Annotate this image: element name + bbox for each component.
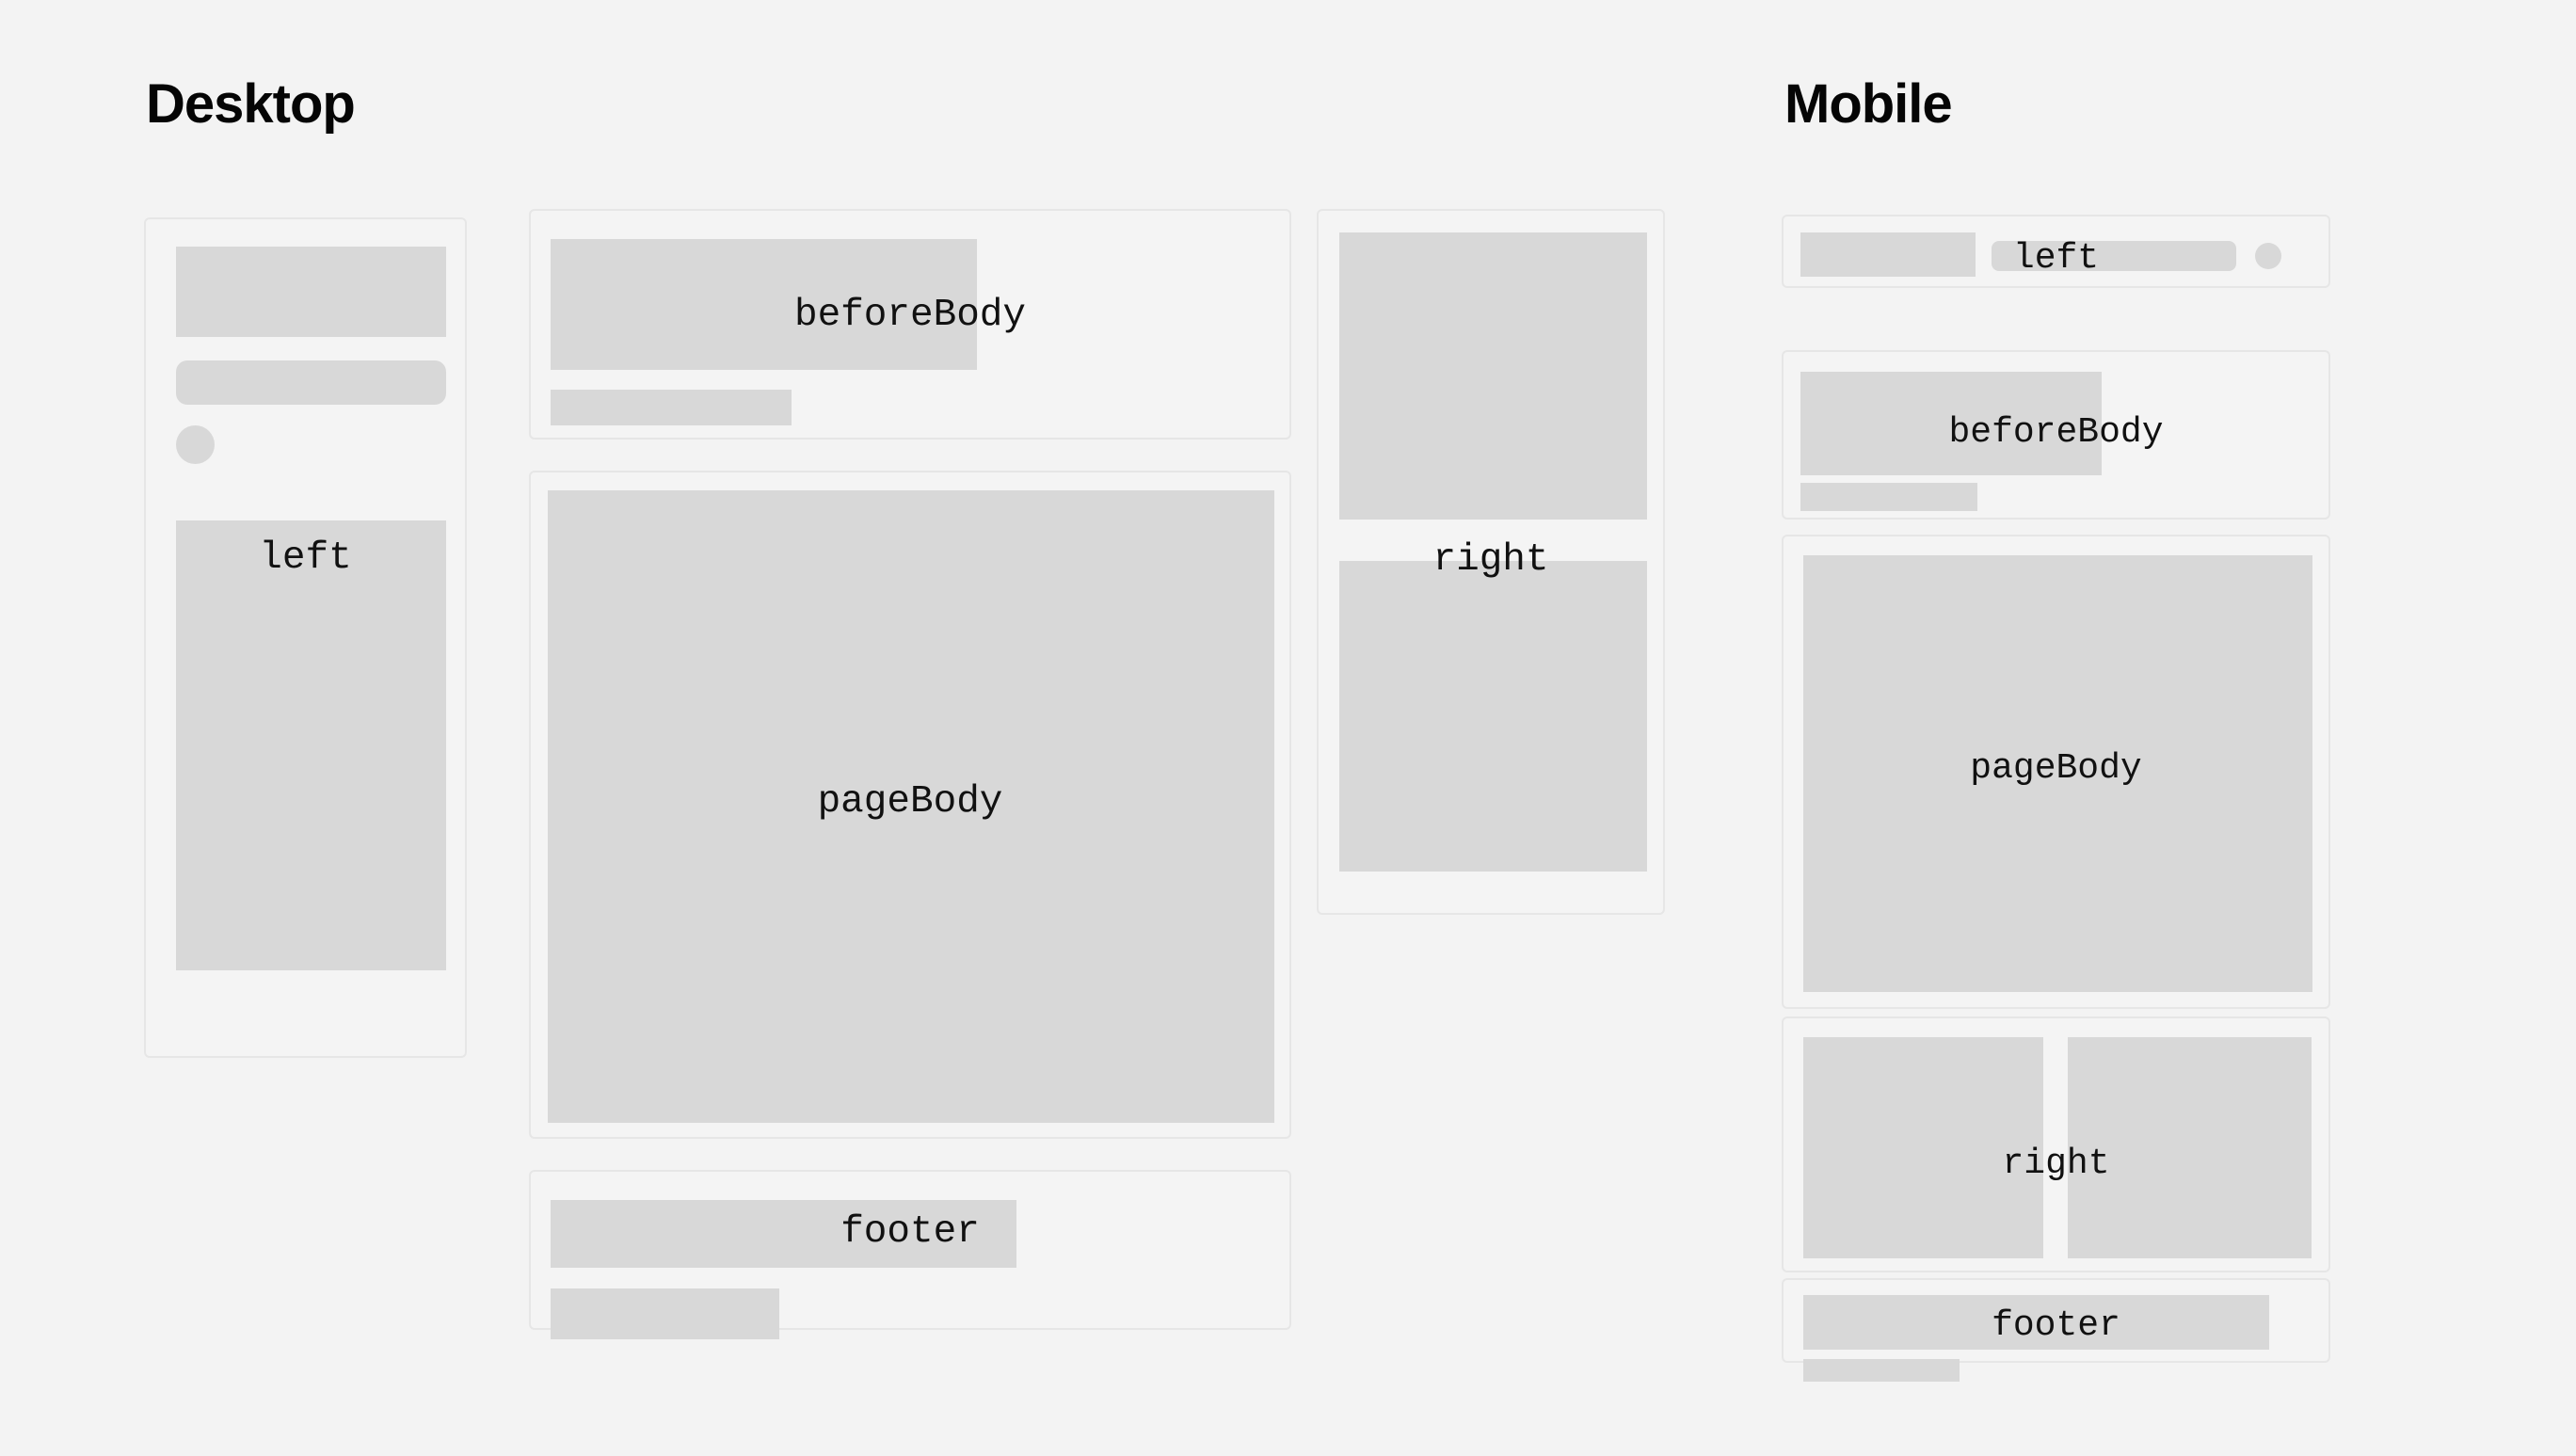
desktop-page-body-panel[interactable] [529, 471, 1291, 1139]
placeholder-bar [1992, 241, 2236, 271]
responsive-layout-preview: Desktop left beforeBody pageBody footer … [0, 0, 2576, 1456]
placeholder-bar [1800, 483, 1977, 511]
mobile-section-heading: Mobile [1784, 77, 1952, 132]
mobile-footer-panel[interactable] [1782, 1278, 2330, 1363]
desktop-left-panel[interactable] [144, 217, 467, 1058]
placeholder-avatar-circle [2255, 243, 2281, 269]
placeholder-block-large [548, 490, 1274, 1123]
placeholder-bar [176, 360, 446, 405]
placeholder-block [551, 1200, 1016, 1268]
placeholder-block [1339, 232, 1647, 520]
placeholder-block [551, 239, 977, 370]
placeholder-block [1800, 232, 1976, 277]
mobile-left-panel[interactable] [1782, 215, 2330, 288]
desktop-footer-panel[interactable] [529, 1170, 1291, 1330]
placeholder-block [1339, 561, 1647, 872]
placeholder-bar [551, 1288, 779, 1339]
placeholder-avatar-circle [176, 425, 215, 464]
placeholder-block-large [176, 520, 446, 970]
placeholder-block [1803, 1295, 2269, 1350]
mobile-page-body-panel[interactable] [1782, 535, 2330, 1009]
placeholder-block [1800, 372, 2102, 475]
placeholder-bar [551, 390, 792, 425]
placeholder-block-large [1803, 555, 2312, 992]
placeholder-bar [1803, 1359, 1960, 1382]
placeholder-block [176, 247, 446, 337]
placeholder-block [2068, 1037, 2312, 1258]
mobile-right-panel[interactable] [1782, 1016, 2330, 1272]
desktop-right-panel[interactable] [1317, 209, 1665, 915]
mobile-before-body-panel[interactable] [1782, 350, 2330, 520]
placeholder-block [1803, 1037, 2043, 1258]
desktop-section-heading: Desktop [146, 77, 355, 132]
desktop-before-body-panel[interactable] [529, 209, 1291, 440]
